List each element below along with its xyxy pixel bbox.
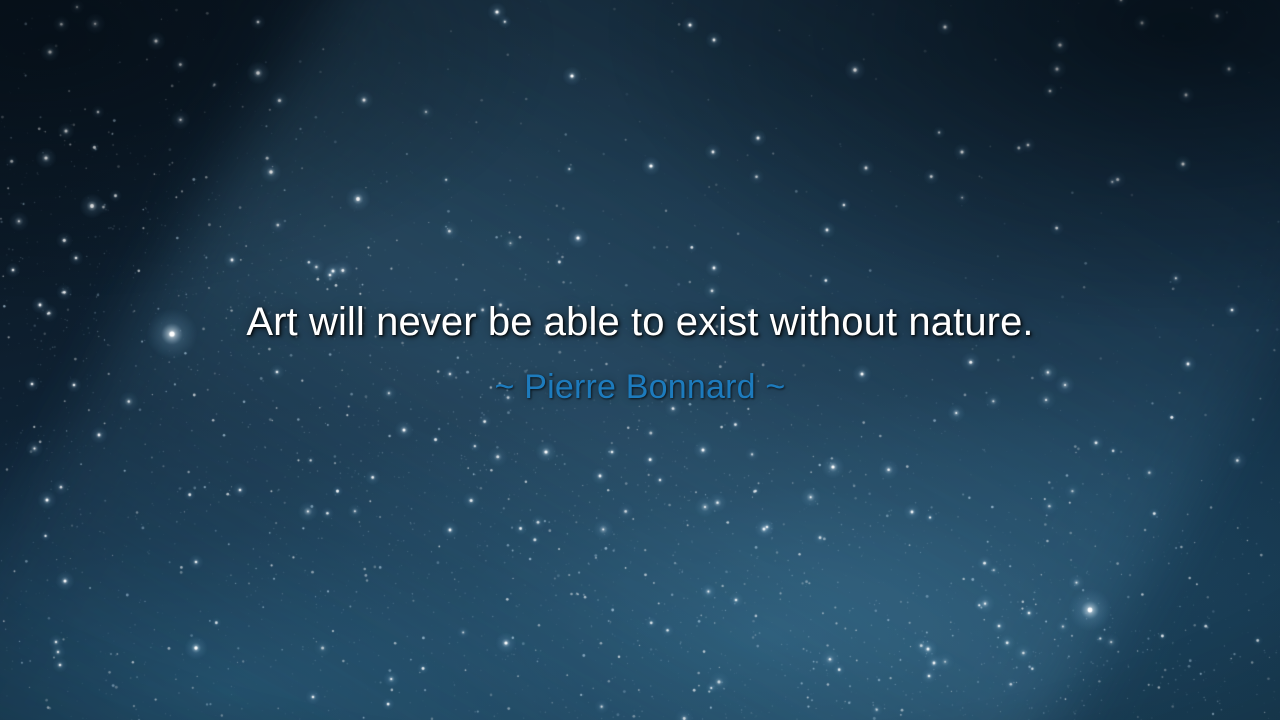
wallpaper-canvas: Art will never be able to exist without … [0,0,1280,720]
night-sky-background [0,0,1280,720]
